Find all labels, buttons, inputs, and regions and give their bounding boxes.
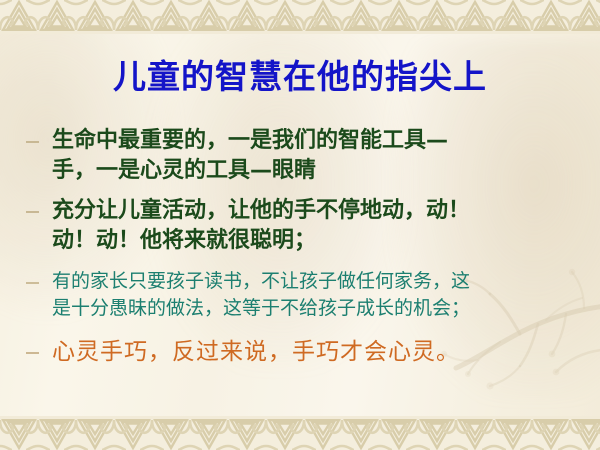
bullet-line: 手，一是心灵的工具—眼睛 [52, 156, 582, 186]
slide-title: 儿童的智慧在他的指尖上 [0, 50, 600, 98]
list-item[interactable]: 充分让儿童活动，让他的手不停地动，动！ 动！动！他将来就很聪明； [20, 196, 582, 256]
bullet-line: 心灵手巧，反过来说，手巧才会心灵。 [52, 336, 582, 368]
list-item[interactable]: 心灵手巧，反过来说，手巧才会心灵。 [20, 336, 582, 368]
bullet-dash-icon [26, 211, 39, 213]
bullet-line: 是十分愚昧的做法，这等于不给孩子成长的机会； [52, 295, 582, 322]
bullet-line: 生命中最重要的，一是我们的智能工具— [52, 126, 582, 156]
bullet-dash-icon [26, 141, 39, 143]
bullet-line: 动！动！他将来就很聪明； [52, 226, 582, 256]
bullet-dash-icon [26, 282, 39, 284]
bullet-list: 生命中最重要的，一是我们的智能工具— 手，一是心灵的工具—眼睛 充分让儿童活动，… [20, 126, 582, 370]
bottom-ornament-border [0, 416, 600, 450]
slide-canvas: 儿童的智慧在他的指尖上 生命中最重要的，一是我们的智能工具— 手，一是心灵的工具… [0, 0, 600, 450]
bullet-line: 充分让儿童活动，让他的手不停地动，动！ [52, 196, 582, 226]
list-item[interactable]: 生命中最重要的，一是我们的智能工具— 手，一是心灵的工具—眼睛 [20, 126, 582, 186]
bullet-dash-icon [26, 352, 39, 354]
bullet-line: 有的家长只要孩子读书，不让孩子做任何家务，这 [52, 268, 582, 295]
top-ornament-border [0, 0, 600, 34]
list-item[interactable]: 有的家长只要孩子读书，不让孩子做任何家务，这 是十分愚昧的做法，这等于不给孩子成… [20, 268, 582, 322]
